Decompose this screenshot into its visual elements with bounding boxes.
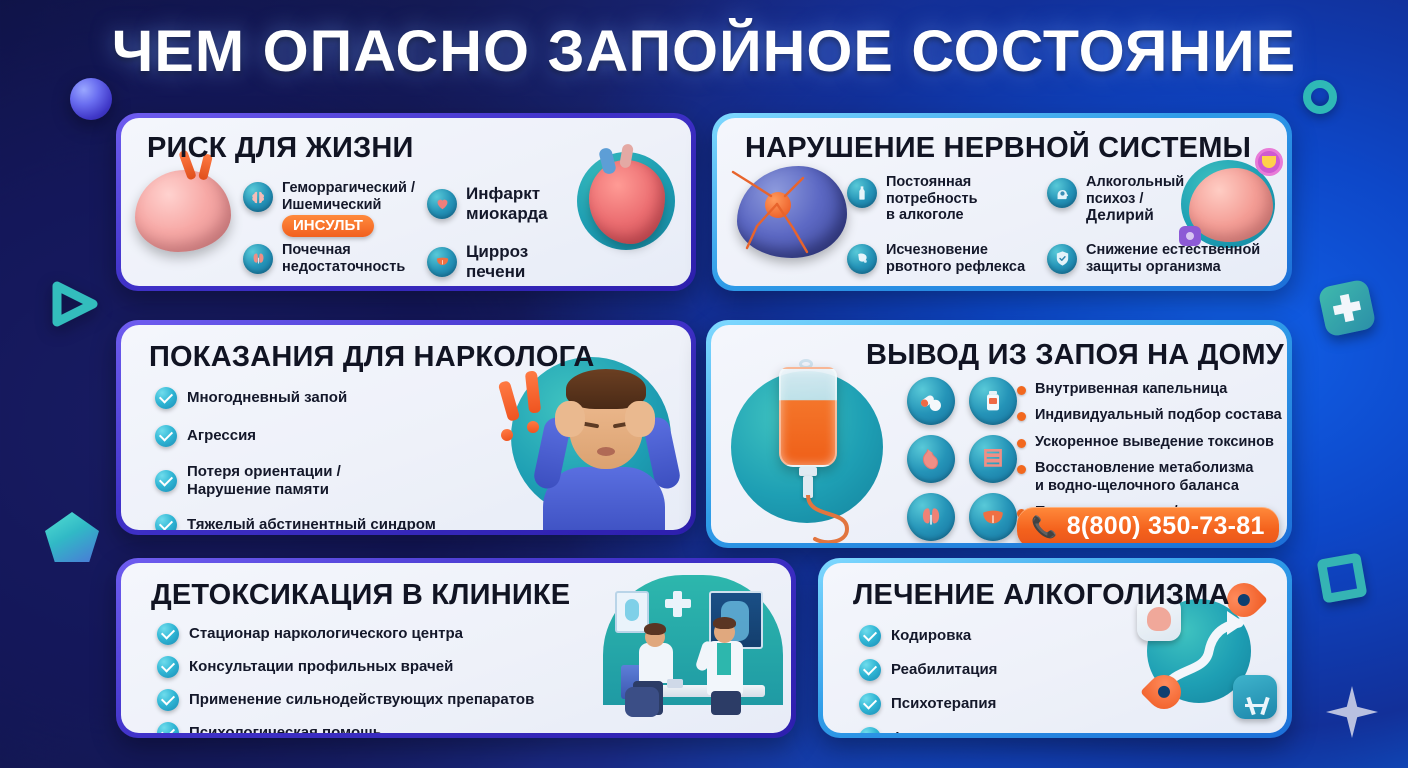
list-item-line1: Постоянная (886, 174, 978, 191)
phone-number: 8(800) 350-73-81 (1067, 512, 1265, 541)
list-item-label: Ускоренное выведение токсинов (1035, 434, 1274, 451)
list-item-label: Физиопроцедуры (891, 729, 1024, 733)
kidneys-icon (243, 244, 273, 274)
xray-screen-icon (709, 591, 763, 649)
list-item-line3: Делирий (1086, 207, 1184, 225)
card-title-home-detox: ВЫВОД ИЗ ЗАПОЯ НА ДОМУ (866, 339, 1284, 372)
check-icon (157, 623, 179, 645)
list-item: Постоянная потребность в алкоголе (847, 174, 978, 224)
shield-check-icon (1047, 244, 1077, 274)
card-home-detox: ВЫВОД ИЗ ЗАПОЯ НА ДОМУ Внутривенная капе… (706, 320, 1292, 548)
list-item: Применение сильнодействующих препаратов (157, 689, 534, 711)
cross-glyph-icon (1328, 289, 1366, 327)
list-item: Многодневный запой (155, 387, 436, 409)
list-item-label: Применение сильнодействующих препаратов (189, 691, 534, 709)
list-item: Тяжелый абстинентный синдром (155, 514, 436, 530)
ring-decor (1303, 80, 1337, 114)
check-icon (155, 387, 177, 409)
list-item-label: Тяжелый абстинентный синдром (187, 516, 436, 530)
list-item-label: Многодневный запой (187, 389, 347, 407)
home-detox-icon-grid (907, 377, 1017, 541)
card-life-risk: РИСК ДЛЯ ЖИЗНИ Геморрагический / Ишемиче… (116, 113, 696, 291)
list-item-line1: Почечная (282, 242, 405, 259)
list-item: Инфаркт миокарда (427, 184, 548, 223)
list-item-line2: печени (466, 262, 528, 282)
check-icon (157, 689, 179, 711)
list-item-line1: Цирроз (466, 242, 528, 262)
bullet-dot-icon (1017, 465, 1026, 474)
pentagon-gem-decor (45, 512, 99, 562)
list-item: Индивидуальный подбор состава (1017, 407, 1282, 424)
phone-cta-button[interactable]: 📞 8(800) 350-73-81 (1017, 507, 1279, 543)
list-item-line2: и водно-щелочного баланса (1035, 478, 1253, 495)
medicine-bottle-icon (969, 377, 1017, 425)
list-item: Исчезновение рвотного рефлекса (847, 242, 1025, 275)
list-item: Реабилитация (859, 659, 1024, 681)
list-item: Кодировка (859, 625, 1024, 647)
check-icon (155, 425, 177, 447)
square-outline-decor (1317, 553, 1368, 604)
sparkle-decor (1326, 686, 1378, 738)
check-icon (157, 722, 179, 733)
card-title-alcoholism-treatment: ЛЕЧЕНИЕ АЛКОГОЛИЗМА (853, 579, 1230, 612)
map-pin-icon (1140, 668, 1188, 716)
stomach-icon (907, 435, 955, 483)
list-item: Восстановление метаболизма и водно-щелоч… (1017, 460, 1282, 495)
list-item-line2: потребность (886, 191, 978, 208)
list-item: Снижение естественной защиты организма (1047, 242, 1260, 275)
card-title-narcologist: ПОКАЗАНИЯ ДЛЯ НАРКОЛОГА (149, 341, 595, 374)
bottle-icon (847, 178, 877, 208)
triangle-outline-decor (47, 278, 101, 330)
list-item-line1: Алкогольный (1086, 174, 1184, 191)
phone-icon: 📞 (1031, 516, 1057, 540)
alcoholism-treatment-list: Кодировка Реабилитация Психотерапия Физи… (859, 625, 1024, 733)
list-item: Алкогольный психоз / Делирий (1047, 174, 1184, 225)
medical-cross-decor (1317, 278, 1376, 337)
list-item: Физиопроцедуры (859, 727, 1024, 733)
list-item-label: Психологическая помощь (189, 724, 382, 733)
list-item-line1: Инфаркт (466, 184, 548, 204)
check-icon (859, 727, 881, 733)
card-alcoholism-treatment: ЛЕЧЕНИЕ АЛКОГОЛИЗМА Кодировка Реабилитац… (818, 558, 1292, 738)
head-brain-icon (1047, 178, 1077, 208)
bullet-dot-icon (1017, 386, 1026, 395)
list-item: Консультации профильных врачей (157, 656, 534, 678)
card-title-nervous-system: НАРУШЕНИЕ НЕРВНОЙ СИСТЕМЫ (745, 132, 1251, 165)
narcologist-list: Многодневный запой Агрессия Потеря ориен… (155, 387, 436, 530)
check-icon (155, 514, 177, 530)
list-item: Агрессия (155, 425, 436, 447)
neuron-brain-illustration (723, 156, 853, 266)
intestine-icon (969, 435, 1017, 483)
list-item-line1: Восстановление метаболизма (1035, 460, 1253, 477)
clinic-office-illustration (581, 569, 791, 733)
card-title-life-risk: РИСК ДЛЯ ЖИЗНИ (147, 132, 414, 165)
list-item-line2: защиты организма (1086, 259, 1260, 276)
card-clinic-detox: ДЕТОКСИКАЦИЯ В КЛИНИКЕ Стационар нарколо… (116, 558, 796, 738)
liver-icon (969, 493, 1017, 541)
check-icon (157, 656, 179, 678)
iv-drip-illustration (721, 343, 911, 543)
brain-illustration (135, 170, 231, 252)
check-icon (859, 659, 881, 681)
check-icon (155, 470, 177, 492)
list-item-label: Реабилитация (891, 661, 997, 679)
bullet-dot-icon (1017, 412, 1026, 421)
exercise-icon (1245, 704, 1265, 707)
check-icon (859, 625, 881, 647)
brain-icon (243, 182, 273, 212)
list-item-label: Агрессия (187, 427, 256, 445)
bullet-dot-icon (1017, 439, 1026, 448)
kidneys-icon (907, 493, 955, 541)
list-item-label: Внутривенная капельница (1035, 381, 1227, 398)
list-item-line2: рвотного рефлекса (886, 259, 1025, 276)
list-item-line2: недостаточность (282, 259, 405, 276)
list-item-line2: психоз / (1086, 191, 1184, 208)
page-title: ЧЕМ ОПАСНО ЗАПОЙНОЕ СОСТОЯНИЕ (0, 18, 1408, 85)
card-nervous-system: НАРУШЕНИЕ НЕРВНОЙ СИСТЕМЫ Постоянная пот… (712, 113, 1292, 291)
list-item-line2: Нарушение памяти (187, 481, 341, 499)
list-item-line1: Исчезновение (886, 242, 1025, 259)
card-title-clinic-detox: ДЕТОКСИКАЦИЯ В КЛИНИКЕ (151, 579, 570, 612)
home-detox-list: Внутривенная капельница Индивидуальный п… (1017, 381, 1282, 521)
list-item: Геморрагический / Ишемический ИНСУЛЬТ (243, 180, 415, 237)
list-item-label: Консультации профильных врачей (189, 658, 453, 676)
pills-icon (907, 377, 955, 425)
list-item: Потеря ориентации / Нарушение памяти (155, 463, 436, 498)
list-item-label: Стационар наркологического центра (189, 625, 463, 643)
list-item: Внутривенная капельница (1017, 381, 1282, 398)
list-item-line1: Снижение естественной (1086, 242, 1260, 259)
list-item-line2: Ишемический (282, 197, 415, 214)
heart-illustration (565, 140, 685, 260)
list-item-label: Индивидуальный подбор состава (1035, 407, 1282, 424)
list-item-line2: миокарда (466, 204, 548, 224)
check-icon (859, 693, 881, 715)
list-item: Стационар наркологического центра (157, 623, 534, 645)
list-item: Цирроз печени (427, 242, 528, 281)
stroke-badge: ИНСУЛЬТ (282, 215, 374, 237)
list-item-label: Психотерапия (891, 695, 996, 713)
list-item-line3: в алкоголе (886, 207, 978, 224)
list-item: Психологическая помощь (157, 722, 534, 733)
list-item-line1: Геморрагический / (282, 180, 415, 197)
list-item: Ускоренное выведение токсинов (1017, 434, 1282, 451)
list-item: Почечная недостаточность (243, 242, 405, 275)
list-item-line1: Потеря ориентации / (187, 463, 341, 481)
clinic-detox-list: Стационар наркологического центра Консул… (157, 623, 534, 733)
list-item: Психотерапия (859, 693, 1024, 715)
card-narcologist: ПОКАЗАНИЯ ДЛЯ НАРКОЛОГА Многодневный зап… (116, 320, 696, 535)
heart-icon (427, 189, 457, 219)
liver-icon (427, 247, 457, 277)
list-item-label: Кодировка (891, 627, 971, 645)
vomit-reflex-icon (847, 244, 877, 274)
